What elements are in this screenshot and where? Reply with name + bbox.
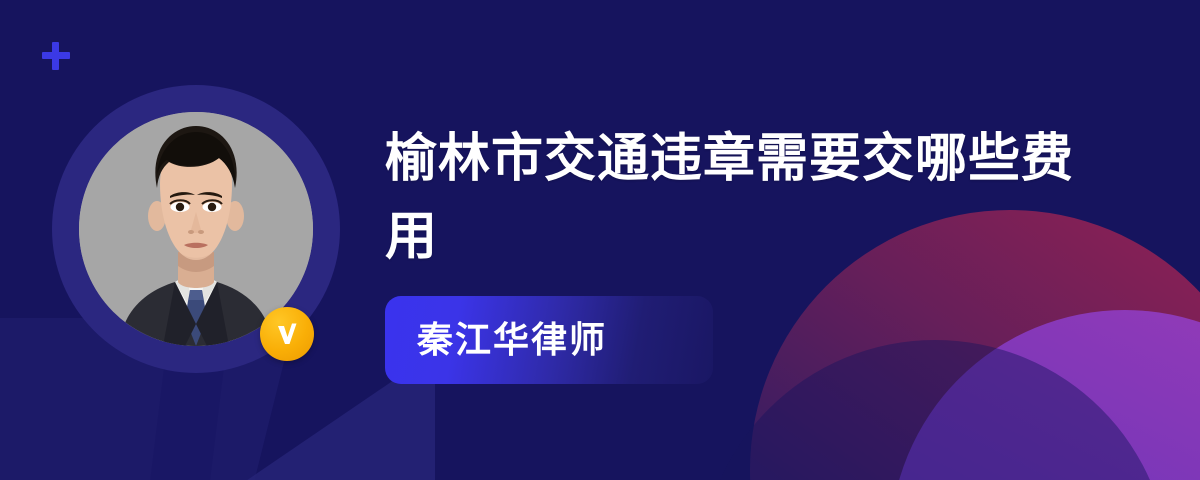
lawyer-name-label: 秦江华律师 <box>417 322 607 358</box>
plus-icon <box>40 40 72 72</box>
avatar <box>52 85 340 373</box>
page-title: 榆林市交通违章需要交哪些费用 <box>385 120 1085 276</box>
verified-badge-icon <box>260 307 314 361</box>
headline-block: 榆林市交通违章需要交哪些费用 <box>385 120 1085 276</box>
lawyer-name-button[interactable]: 秦江华律师 <box>385 296 713 384</box>
lawyer-promo-banner: 榆林市交通违章需要交哪些费用 秦江华律师 <box>0 0 1200 480</box>
